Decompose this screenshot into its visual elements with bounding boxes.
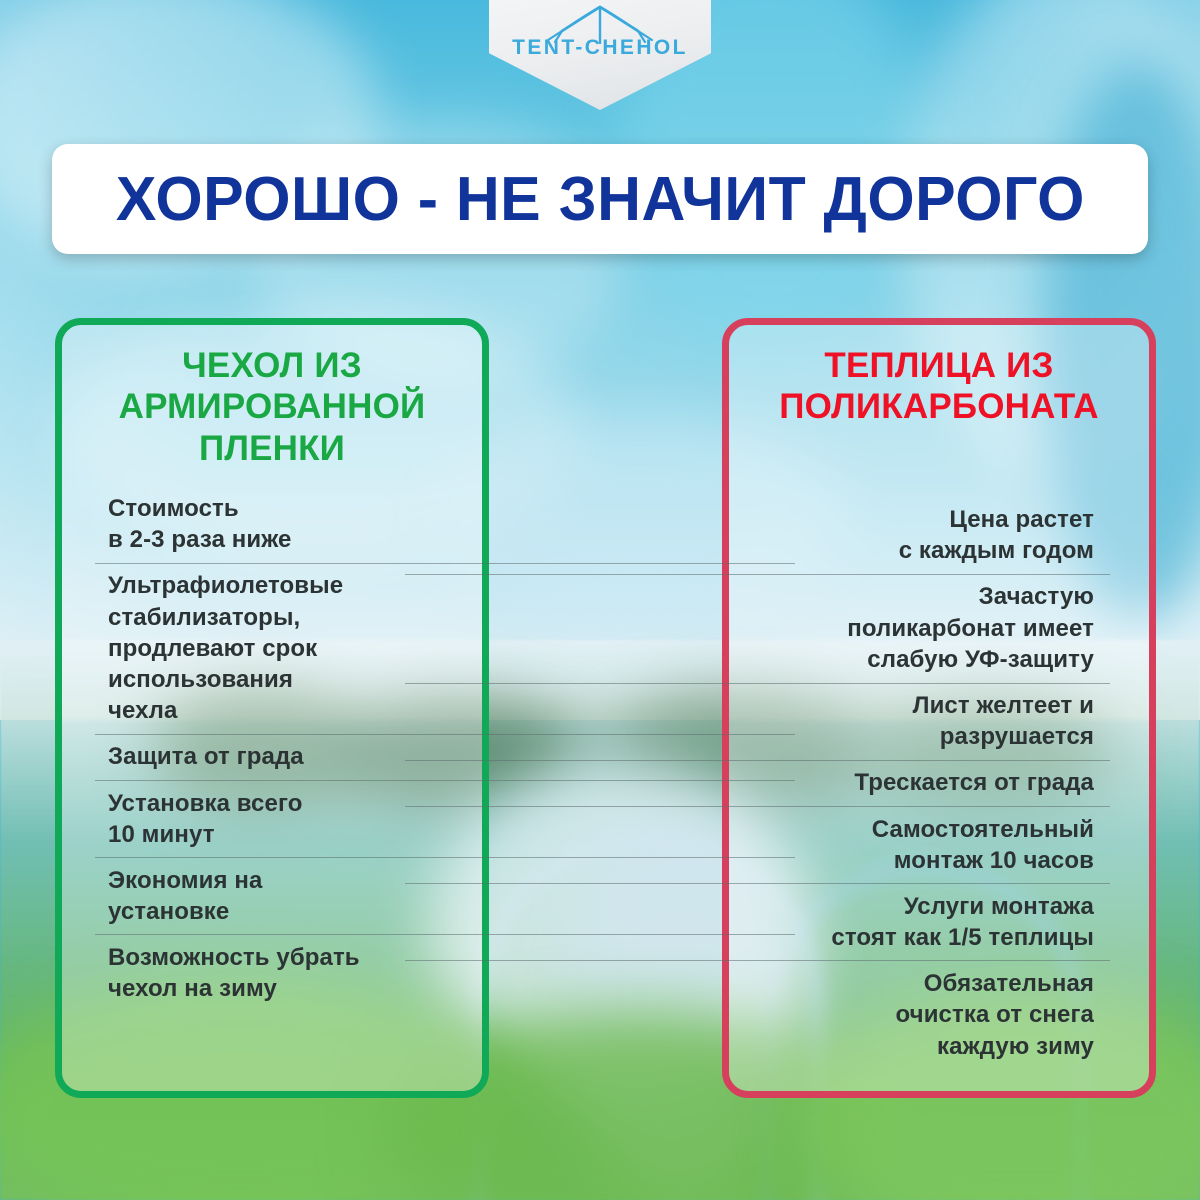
list-item: Самостоятельныймонтаж 10 часов: [796, 807, 1094, 884]
logo: TENT-CHEHOL: [489, 0, 711, 110]
benefit-list: Стоимостьв 2-3 раза нижеУльтрафиолетовые…: [108, 486, 398, 1013]
list-item: Трескается от града: [796, 760, 1094, 806]
drawback-list: Цена растетс каждым годомЗачастуюполикар…: [796, 497, 1094, 1070]
page-title: ХОРОШО - НЕ ЗНАЧИТ ДОРОГО: [115, 164, 1084, 235]
list-item: Услуги монтажастоят как 1/5 теплицы: [796, 884, 1094, 961]
list-item: Обязательнаяочистка от снегакаждую зиму: [796, 961, 1094, 1070]
list-item: Возможность убратьчехол на зиму: [108, 935, 398, 1012]
list-item: Стоимостьв 2-3 раза ниже: [108, 486, 398, 563]
card-heading-left: ЧЕХОЛ ИЗ АРМИРОВАННОЙ ПЛЕНКИ: [62, 345, 482, 469]
title-banner: ХОРОШО - НЕ ЗНАЧИТ ДОРОГО: [52, 144, 1148, 254]
logo-wordmark: TENT-CHEHOL: [489, 36, 711, 60]
list-item: Защита от града: [108, 734, 398, 780]
card-heading-right: ТЕПЛИЦА ИЗ ПОЛИКАРБОНАТА: [729, 345, 1149, 428]
infographic-canvas: TENT-CHEHOL ХОРОШО - НЕ ЗНАЧИТ ДОРОГО ЧЕ…: [0, 0, 1200, 1200]
list-item: Цена растетс каждым годом: [796, 497, 1094, 574]
list-item: Зачастуюполикарбонат имеетслабую УФ-защи…: [796, 574, 1094, 683]
list-item: Ультрафиолетовыестабилизаторы,продлевают…: [108, 563, 398, 734]
list-item: Лист желтеет иразрушается: [796, 683, 1094, 760]
list-item: Установка всего10 минут: [108, 781, 398, 858]
list-item: Экономия наустановке: [108, 858, 398, 935]
